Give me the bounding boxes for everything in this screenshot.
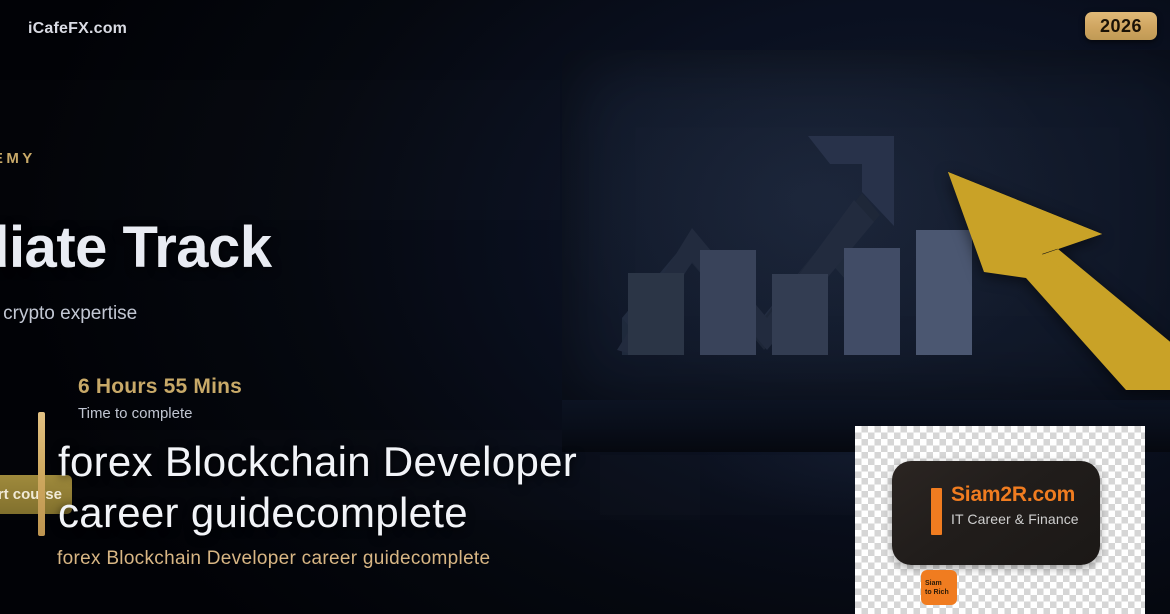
watermark-title: Siam2R.com	[951, 483, 1075, 507]
watermark-badge: Siam to Rich	[921, 570, 957, 605]
year-badge: 2026	[1085, 12, 1157, 40]
track-subtitle: Blockchain & crypto expertise	[0, 303, 137, 325]
watermark-accent-bar	[931, 488, 942, 535]
brand-logo-text[interactable]: iCafeFX.com	[28, 20, 127, 38]
duration-value: 6 Hours 55 Mins	[78, 375, 242, 399]
bar-4	[844, 248, 900, 355]
track-title: Intermediate Track	[0, 214, 272, 281]
page-title: forex Blockchain Developer career guidec…	[58, 436, 698, 538]
duration-label: Time to complete	[78, 405, 193, 422]
academy-kicker: ACADEMY	[0, 150, 36, 167]
hero-banner: iCafeFX.com 2026	[0, 0, 1170, 614]
gold-accent-bar	[38, 412, 45, 536]
bar-1	[628, 273, 684, 355]
page-subtitle: forex Blockchain Developer career guidec…	[57, 548, 490, 570]
watermark-tagline: IT Career & Finance	[951, 511, 1079, 527]
background-band	[0, 80, 560, 220]
watermark-card: Siam2R.com IT Career & Finance Siam to R…	[892, 461, 1100, 565]
cursor-arrow-icon	[930, 160, 1170, 390]
watermark-badge-line2: to Rich	[925, 588, 949, 597]
bar-3	[772, 274, 828, 355]
watermark-overlay: Siam2R.com IT Career & Finance Siam to R…	[855, 426, 1145, 614]
watermark-badge-line1: Siam	[925, 579, 942, 588]
bar-2	[700, 250, 756, 355]
